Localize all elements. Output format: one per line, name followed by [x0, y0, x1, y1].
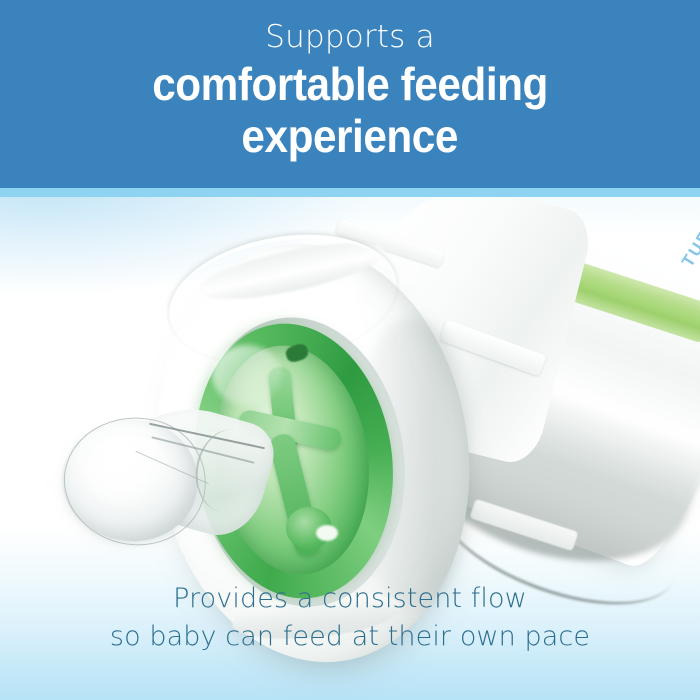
caption-block: Provides a consistent flow so baby can f…: [0, 580, 700, 656]
accent-strip-divider: [0, 188, 700, 197]
nipple-highlight: [86, 435, 172, 509]
headline-line-light: Supports a: [265, 18, 435, 56]
caption-line-1: Provides a consistent flow: [0, 580, 700, 618]
caption-line-2: so baby can feed at their own pace: [0, 618, 700, 656]
infographic-canvas: Supports a comfortable feeding experienc…: [0, 0, 700, 700]
vent-baffle-specular: [316, 525, 338, 541]
header-banner: Supports a comfortable feeding experienc…: [0, 0, 700, 188]
vent-insert-gloss: [212, 345, 282, 405]
headline-line-bold-primary: comfortable feeding: [152, 58, 548, 110]
headline-line-bold-secondary: experience: [242, 110, 459, 162]
